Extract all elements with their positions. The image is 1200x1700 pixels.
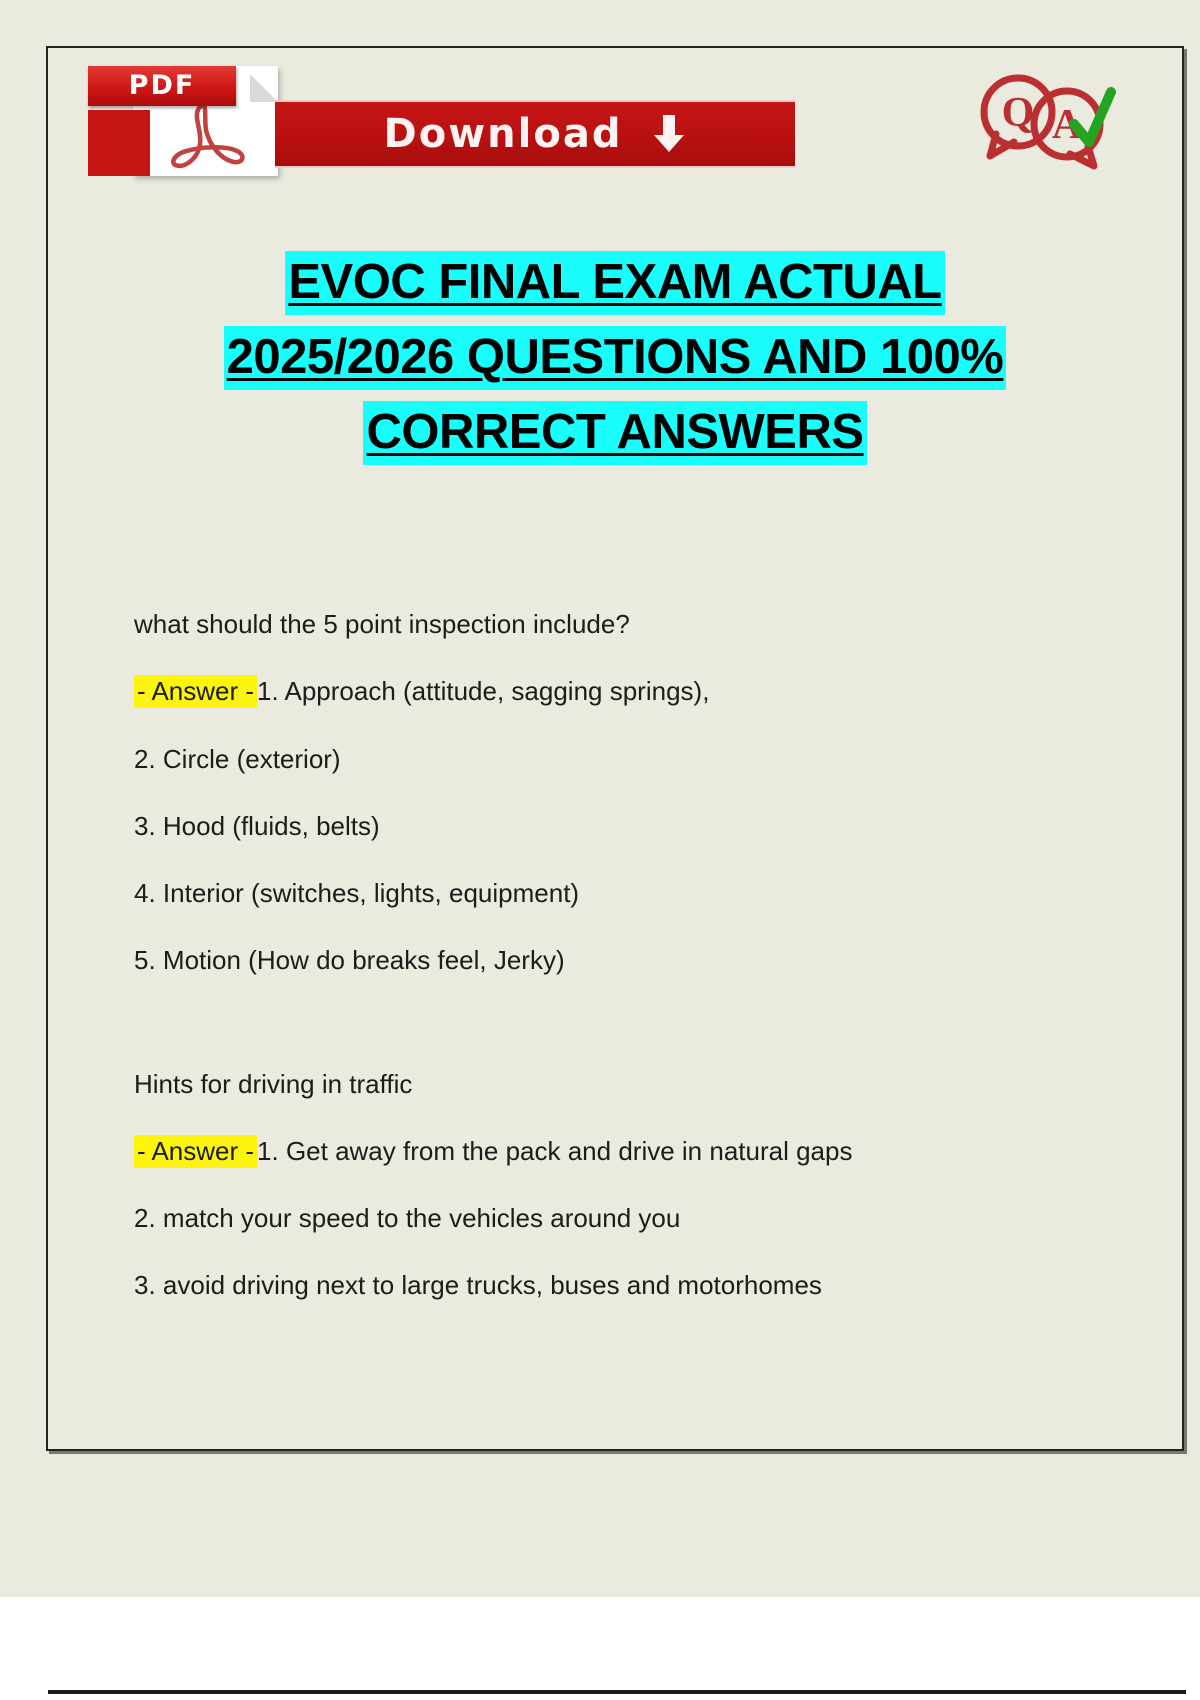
answer-marker: - Answer - (134, 675, 257, 708)
answer-first-item: 1. Get away from the pack and drive in n… (257, 1136, 852, 1166)
answer-line: - Answer -1. Approach (attitude, sagging… (134, 675, 1142, 708)
question-text: what should the 5 point inspection inclu… (134, 608, 1142, 641)
pdf-file-icon: PDF (88, 58, 278, 178)
title-line-2: 2025/2026 QUESTIONS AND 100% (48, 333, 1182, 382)
pdf-label: PDF (88, 66, 236, 106)
acrobat-swirl-icon (160, 100, 256, 182)
answer-item: 2. Circle (exterior) (134, 743, 1142, 776)
document-body: what should the 5 point inspection inclu… (134, 608, 1142, 1337)
answer-item: 2. match your speed to the vehicles arou… (134, 1202, 1142, 1235)
answer-marker: - Answer - (134, 1135, 257, 1168)
down-arrow-icon (652, 115, 686, 153)
answer-item: 3. avoid driving next to large trucks, b… (134, 1269, 1142, 1302)
answer-line: - Answer -1. Get away from the pack and … (134, 1135, 1142, 1168)
title-line-3-text: CORRECT ANSWERS (363, 401, 866, 465)
pdf-page-fold (250, 74, 278, 102)
answer-item: 3. Hood (fluids, belts) (134, 810, 1142, 843)
document-frame: PDF Download Q A EVOC FINAL EXAM ACTUAL (46, 46, 1184, 1451)
page-gap-strip (0, 1597, 1200, 1700)
qa-logo: Q A (970, 66, 1120, 176)
download-button[interactable]: Download (275, 100, 795, 168)
pdf-red-block (88, 110, 150, 176)
qa-q-letter: Q (1002, 90, 1035, 136)
title-line-1-text: EVOC FINAL EXAM ACTUAL (285, 251, 944, 315)
answer-first-item: 1. Approach (attitude, sagging springs), (257, 676, 709, 706)
download-button-label: Download (384, 111, 623, 157)
title-line-2-text: 2025/2026 QUESTIONS AND 100% (224, 326, 1007, 390)
answer-item: 4. Interior (switches, lights, equipment… (134, 877, 1142, 910)
answer-item: 5. Motion (How do breaks feel, Jerky) (134, 944, 1142, 977)
document-header: PDF Download Q A (48, 48, 1182, 198)
question-text: Hints for driving in traffic (134, 1068, 1142, 1101)
title-line-3: CORRECT ANSWERS (48, 408, 1182, 457)
next-page-top-rule (48, 1690, 1186, 1694)
section-spacer (134, 1012, 1142, 1034)
title-line-1: EVOC FINAL EXAM ACTUAL (48, 258, 1182, 307)
document-title: EVOC FINAL EXAM ACTUAL 2025/2026 QUESTIO… (48, 258, 1182, 457)
